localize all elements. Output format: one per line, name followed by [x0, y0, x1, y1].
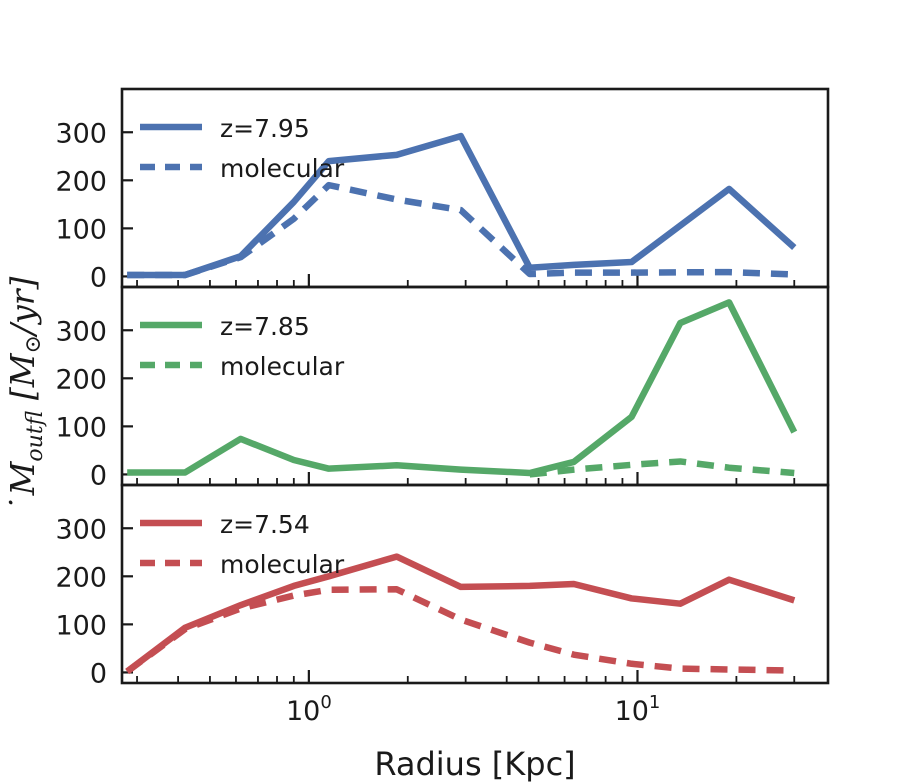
panel-middle-legend-redshift-label: z=7.85	[220, 312, 310, 341]
panel-bottom-series-molecular	[127, 589, 794, 671]
chart-canvas: 0100200300z=7.95molecular0100200300z=7.8…	[0, 0, 913, 783]
panel-top-ytick-label: 200	[55, 166, 107, 197]
panel-top-legend-redshift-label: z=7.95	[220, 114, 310, 143]
panel-top-ytick-label: 100	[55, 214, 107, 245]
panel-bottom-ytick-label: 0	[90, 658, 107, 689]
panel-top-ytick-label: 300	[55, 118, 107, 149]
panel-middle-legend-molecular-label: molecular	[220, 352, 345, 381]
panel-top-ytick-label: 0	[90, 262, 107, 293]
panel-middle-ytick-label: 200	[55, 364, 107, 395]
panel-middle-ytick-label: 0	[90, 460, 107, 491]
panel-bottom-legend-redshift-label: z=7.54	[220, 510, 310, 539]
panel-bottom-legend-molecular-label: molecular	[220, 550, 345, 579]
panel-bottom-ytick-label: 300	[55, 514, 107, 545]
figure-root: 0100200300z=7.95molecular0100200300z=7.8…	[0, 0, 913, 783]
xtick-label: 100	[286, 692, 332, 727]
panel-middle-ytick-label: 300	[55, 316, 107, 347]
yaxis-title: ̇Moutfl [M⊙/yr]	[3, 277, 48, 506]
panel-top: 0100200300z=7.95molecular	[55, 89, 828, 293]
panel-bottom-ytick-label: 100	[55, 610, 107, 641]
panel-bottom-ytick-label: 200	[55, 562, 107, 593]
panel-bottom: 0100200300z=7.54molecular	[55, 485, 828, 689]
xaxis-title: Radius [Kpc]	[374, 745, 575, 783]
xtick-label: 101	[615, 692, 661, 727]
panel-middle: 0100200300z=7.85molecular	[55, 287, 828, 491]
panel-top-legend-molecular-label: molecular	[220, 154, 345, 183]
yaxis-title-text: ̇Moutfl [M⊙/yr]	[3, 277, 48, 506]
panel-middle-ytick-label: 100	[55, 412, 107, 443]
